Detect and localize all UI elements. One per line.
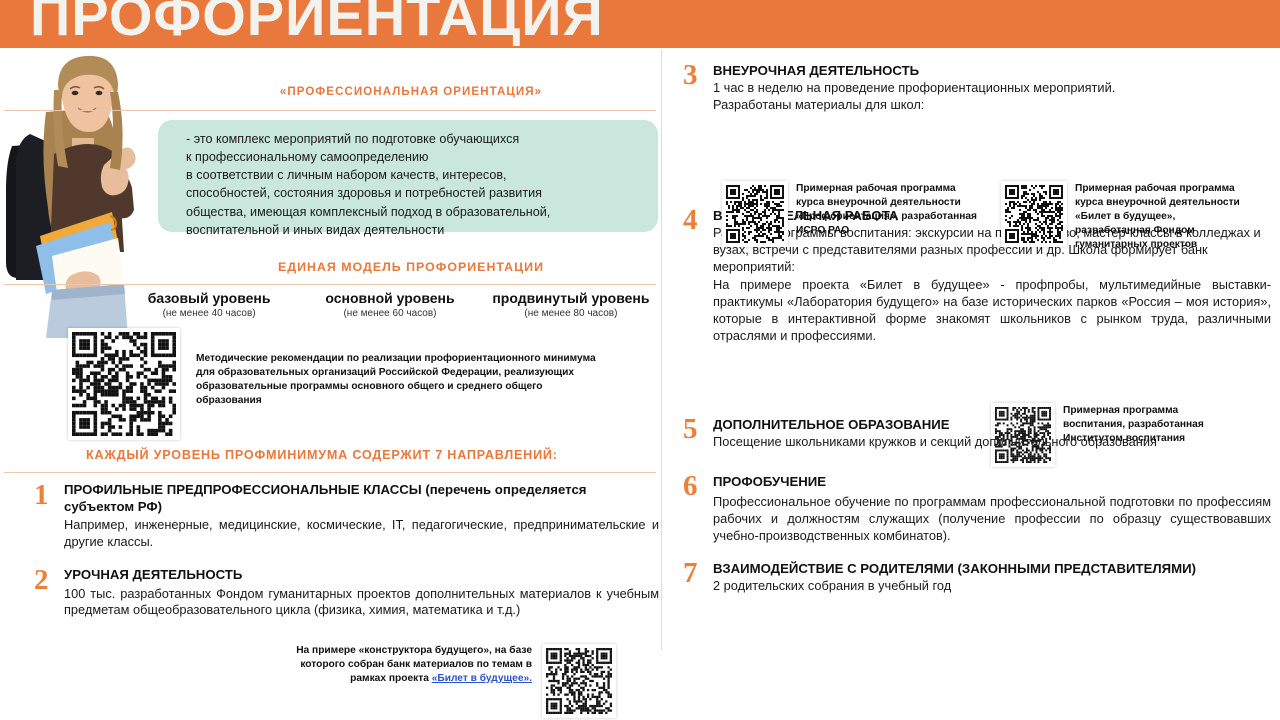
direction-text-4b: На примере проекта «Билет в будущее» - п… bbox=[713, 277, 1271, 345]
direction-item-7: 7 ВЗАИМОДЕЙСТВИЕ С РОДИТЕЛЯМИ (ЗАКОННЫМИ… bbox=[683, 560, 1271, 595]
header-bar: ПРОФОРИЕНТАЦИЯ bbox=[0, 0, 1280, 48]
level-basic-hours: (не менее 40 часов) bbox=[120, 308, 298, 319]
level-advanced-hours: (не менее 80 часов) bbox=[482, 308, 660, 319]
qr-cell-profori: Примерная рабочая программа курса внеуро… bbox=[722, 181, 981, 251]
bilet-v-budushchee-link[interactable]: «Билет в будущее». bbox=[432, 673, 532, 684]
definition-line-4: способностей, состояния здоровья и потре… bbox=[186, 184, 646, 202]
left-column: «ПРОФЕССИОНАЛЬНАЯ ОРИЕНТАЦИЯ» - это комп… bbox=[0, 48, 661, 720]
direction-text-6: Профессиональное обучение по программам … bbox=[713, 494, 1271, 545]
constructor-caption-line-3: рамках проекта «Билет в будущее». bbox=[232, 672, 532, 686]
level-advanced: продвинутый уровень (не менее 80 часов) bbox=[482, 290, 660, 319]
constructor-caption-line-1: На примере «конструктора будущего», на б… bbox=[232, 644, 532, 658]
divider-rule-2 bbox=[4, 284, 656, 285]
direction-item-2: 2 УРОЧНАЯ ДЕЯТЕЛЬНОСТЬ 100 тыс. разработ… bbox=[34, 567, 659, 619]
direction-heading-3: ВНЕУРОЧНАЯ ДЕЯТЕЛЬНОСТЬ bbox=[713, 62, 1271, 79]
page-body: «ПРОФЕССИОНАЛЬНАЯ ОРИЕНТАЦИЯ» - это комп… bbox=[0, 48, 1280, 720]
definition-line-5: общества, имеющая комплексный подход в о… bbox=[186, 203, 646, 221]
qr-bilet-caption: Примерная рабочая программа курса внеуро… bbox=[1075, 182, 1253, 251]
definition-line-2: к профессиональному самоопределению bbox=[186, 148, 646, 166]
levels-row: базовый уровень (не менее 40 часов) осно… bbox=[120, 290, 660, 319]
direction-text-2: 100 тыс. разработанных Фондом гуманитарн… bbox=[64, 586, 659, 619]
direction-number-5: 5 bbox=[683, 416, 713, 451]
constructor-qr-row: На примере «конструктора будущего», на б… bbox=[232, 644, 616, 718]
qr-code-bilet-program[interactable] bbox=[1001, 181, 1067, 247]
direction-item-5: 5 ДОПОЛНИТЕЛЬНОЕ ОБРАЗОВАНИЕ Посещение ш… bbox=[683, 416, 1271, 451]
direction-number-1: 1 bbox=[34, 482, 64, 551]
methodical-recommendations-row: Методические рекомендации по реализации … bbox=[68, 328, 596, 440]
direction-heading-2: УРОЧНАЯ ДЕЯТЕЛЬНОСТЬ bbox=[64, 567, 659, 584]
level-main-name: основной уровень bbox=[301, 290, 479, 306]
direction-heading-5: ДОПОЛНИТЕЛЬНОЕ ОБРАЗОВАНИЕ bbox=[713, 416, 1271, 433]
direction-number-4: 4 bbox=[683, 207, 713, 344]
qr-code-constructor[interactable] bbox=[542, 644, 616, 718]
direction-heading-6: ПРОФОБУЧЕНИЕ bbox=[713, 473, 1271, 490]
direction-item-3: 3 ВНЕУРОЧНАЯ ДЕЯТЕЛЬНОСТЬ 1 час в неделю… bbox=[683, 62, 1271, 114]
direction-number-3: 3 bbox=[683, 62, 713, 114]
direction-text-5: Посещение школьниками кружков и секций д… bbox=[713, 434, 1271, 451]
direction-item-6: 6 ПРОФОБУЧЕНИЕ Профессиональное обучение… bbox=[683, 473, 1271, 545]
level-advanced-name: продвинутый уровень bbox=[482, 290, 660, 306]
divider-rule-3 bbox=[4, 472, 656, 473]
direction-text-1: Например, инженерные, медицинские, косми… bbox=[64, 517, 659, 550]
qr-code-profori-program[interactable] bbox=[722, 181, 788, 247]
direction-number-2: 2 bbox=[34, 567, 64, 619]
right-column: 3 ВНЕУРОЧНАЯ ДЕЯТЕЛЬНОСТЬ 1 час в неделю… bbox=[661, 48, 1280, 720]
qr-cell-bilet: Примерная рабочая программа курса внеуро… bbox=[1001, 181, 1253, 251]
page-title: ПРОФОРИЕНТАЦИЯ bbox=[30, 0, 604, 44]
divider-rule-1 bbox=[4, 110, 656, 111]
level-basic-name: базовый уровень bbox=[120, 290, 298, 306]
constructor-caption-prefix: рамках проекта bbox=[350, 673, 432, 684]
qr-profori-caption: Примерная рабочая программа курса внеуро… bbox=[796, 182, 981, 238]
definition-line-1: - это комплекс мероприятий по подготовке… bbox=[186, 130, 646, 148]
qr-code-methodical-recommendations[interactable] bbox=[68, 328, 180, 440]
constructor-caption-line-2: которого собран банк материалов по темам… bbox=[232, 658, 532, 672]
direction-number-7: 7 bbox=[683, 560, 713, 595]
constructor-qr-caption: На примере «конструктора будущего», на б… bbox=[232, 644, 532, 686]
direction-text-3: 1 час в неделю на проведение профориента… bbox=[713, 80, 1271, 114]
direction-number-6: 6 bbox=[683, 473, 713, 545]
model-title: ЕДИНАЯ МОДЕЛЬ ПРОФОРИЕНТАЦИИ bbox=[166, 260, 656, 274]
direction-heading-7: ВЗАИМОДЕЙСТВИЕ С РОДИТЕЛЯМИ (ЗАКОННЫМИ П… bbox=[713, 560, 1271, 577]
level-main: основной уровень (не менее 60 часов) bbox=[301, 290, 479, 319]
level-main-hours: (не менее 60 часов) bbox=[301, 308, 479, 319]
level-basic: базовый уровень (не менее 40 часов) bbox=[120, 290, 298, 319]
direction-item-1: 1 ПРОФИЛЬНЫЕ ПРЕДПРОФЕССИОНАЛЬНЫЕ КЛАССЫ… bbox=[34, 482, 659, 551]
kicker-label: «ПРОФЕССИОНАЛЬНАЯ ОРИЕНТАЦИЯ» bbox=[166, 86, 656, 98]
qr-main-caption: Методические рекомендации по реализации … bbox=[196, 352, 596, 408]
directions-title: КАЖДЫЙ УРОВЕНЬ ПРОФМИНИМУМА СОДЕРЖИТ 7 Н… bbox=[86, 448, 558, 462]
definition-box: - это комплекс мероприятий по подготовке… bbox=[158, 120, 658, 232]
definition-line-6: воспитательной и иных видах деятельности bbox=[186, 221, 646, 239]
qr-pair-row: Примерная рабочая программа курса внеуро… bbox=[722, 181, 1253, 251]
direction-heading-1: ПРОФИЛЬНЫЕ ПРЕДПРОФЕССИОНАЛЬНЫЕ КЛАССЫ (… bbox=[64, 482, 659, 515]
direction-text-7: 2 родительских собрания в учебный год bbox=[713, 578, 1271, 595]
definition-line-3: в соответствии с личным набором качеств,… bbox=[186, 166, 646, 184]
